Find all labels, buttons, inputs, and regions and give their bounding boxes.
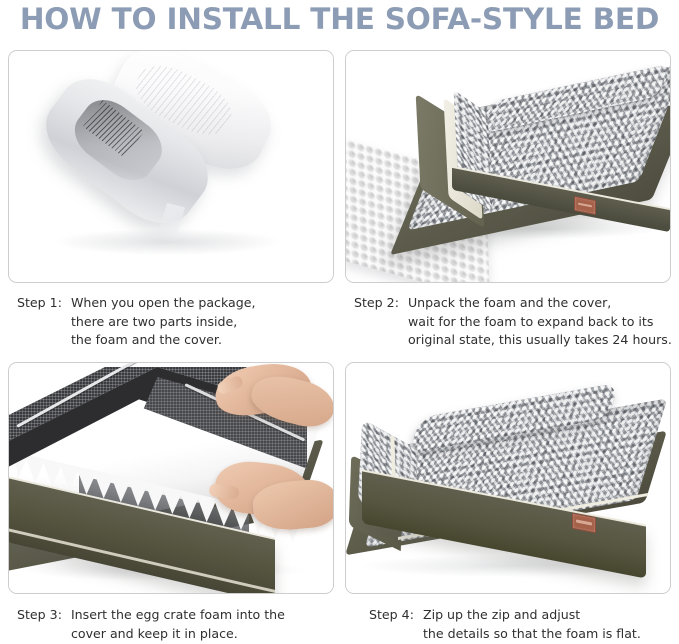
step-4-label: Step 4: xyxy=(369,606,423,625)
step-3-label: Step 3: xyxy=(17,606,71,625)
step-1-text: When you open the package, there are two… xyxy=(71,294,337,350)
page-title: HOW TO INSTALL THE SOFA-STYLE BED xyxy=(0,2,679,40)
step-4-text: Zip up the zip and adjust the details so… xyxy=(423,606,679,643)
step-2-image-panel xyxy=(345,50,671,283)
infographic-page: HOW TO INSTALL THE SOFA-STYLE BED xyxy=(0,0,679,644)
step-1-label: Step 1: xyxy=(17,294,71,313)
step-2-line-1: Unpack the foam and the cover, xyxy=(408,294,676,313)
step-1-line-1: When you open the package, xyxy=(71,294,337,313)
step-3-text: Insert the egg crate foam into the cover… xyxy=(71,606,337,643)
packaged-rolls-scene xyxy=(9,51,333,282)
unpacked-parts-scene xyxy=(346,51,670,282)
step-3-line-1: Insert the egg crate foam into the xyxy=(71,606,337,625)
step-3-line-2: cover and keep it in place. xyxy=(71,625,337,644)
step-2-line-3: original state, this usually takes 24 ho… xyxy=(408,331,676,350)
step-3-caption: Step 3: Insert the egg crate foam into t… xyxy=(17,606,337,643)
step-2-caption: Step 2: Unpack the foam and the cover, w… xyxy=(354,294,676,350)
step-4-caption: Step 4: Zip up the zip and adjust the de… xyxy=(369,606,679,643)
step-2-label: Step 2: xyxy=(354,294,408,313)
step-1-line-2: there are two parts inside, xyxy=(71,313,337,332)
foam-insertion-scene xyxy=(9,363,333,593)
step-2-line-2: wait for the foam to expand back to its xyxy=(408,313,676,332)
step-1-caption: Step 1: When you open the package, there… xyxy=(17,294,337,350)
step-4-line-1: Zip up the zip and adjust xyxy=(423,606,679,625)
step-1-line-3: the foam and the cover. xyxy=(71,331,337,350)
step-4-line-2: the details so that the foam is flat. xyxy=(423,625,679,644)
step-2-text: Unpack the foam and the cover, wait for … xyxy=(408,294,676,350)
step-1-image-panel xyxy=(8,50,334,283)
step-4-image-panel xyxy=(345,362,671,594)
finished-bed-scene xyxy=(346,363,670,593)
step-3-image-panel xyxy=(8,362,334,594)
